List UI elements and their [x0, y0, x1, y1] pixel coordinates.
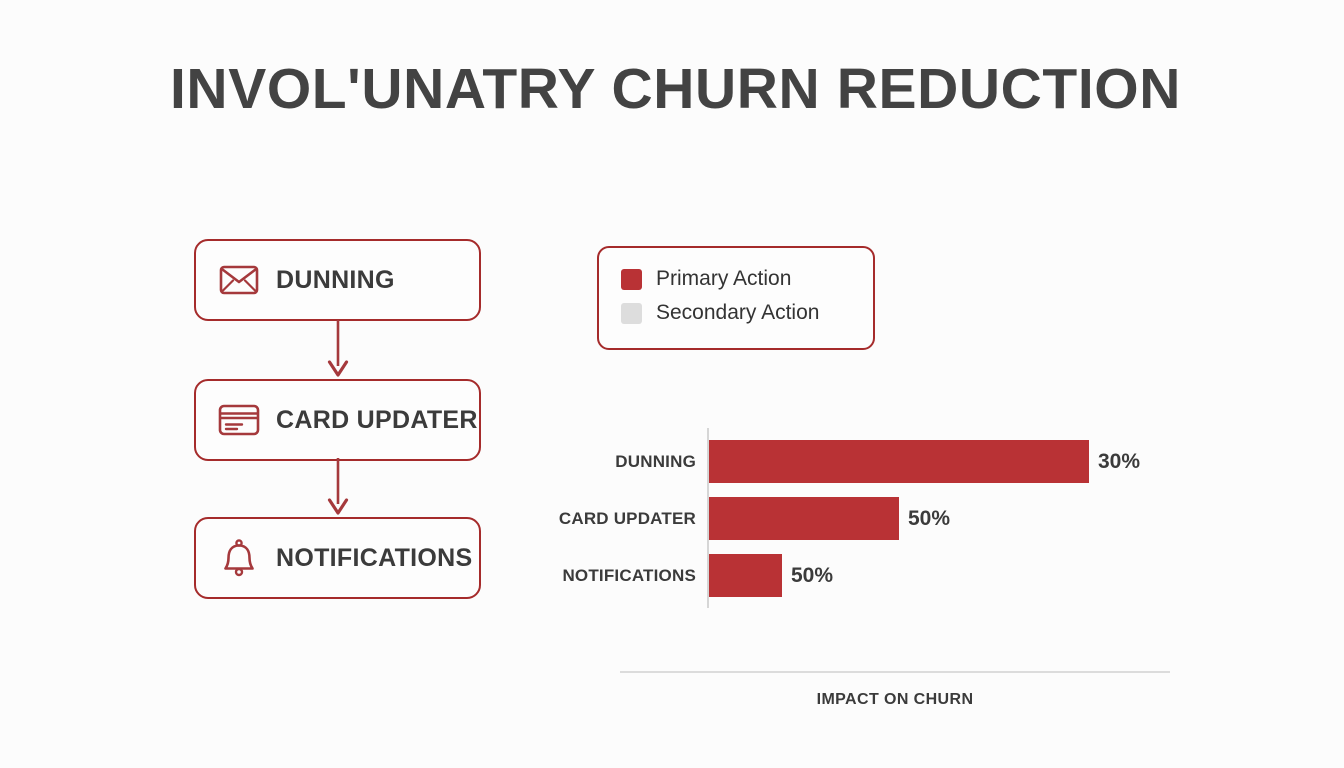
- caption-divider: [620, 671, 1170, 673]
- legend-label: Secondary Action: [656, 301, 819, 325]
- chart-caption: IMPACT ON CHURN: [620, 691, 1170, 709]
- flow-step-notifications[interactable]: NOTIFICATIONS: [194, 517, 481, 599]
- chart-legend: Primary Action Secondary Action: [597, 246, 875, 350]
- bar-category-label: CARD UPDATER: [540, 509, 696, 529]
- bar-row[interactable]: NOTIFICATIONS 50%: [540, 554, 1180, 597]
- bar-value-label: 50%: [908, 507, 950, 531]
- legend-swatch-primary: [621, 269, 642, 290]
- arrow-down-icon: [324, 458, 352, 518]
- bar-fill: [709, 554, 782, 597]
- legend-label: Primary Action: [656, 267, 791, 291]
- slide-canvas: INVOL'UNATRY CHURN REDUCTION DUNNING: [0, 0, 1344, 768]
- legend-item-primary[interactable]: Primary Action: [621, 262, 873, 296]
- envelope-icon: [218, 259, 260, 301]
- bar-value-label: 50%: [791, 564, 833, 588]
- flow-step-label: DUNNING: [276, 266, 395, 295]
- bar-fill: [709, 440, 1089, 483]
- credit-card-icon: [218, 399, 260, 441]
- bar-track: 50%: [709, 554, 833, 597]
- bar-track: 30%: [709, 440, 1140, 483]
- flow-step-dunning[interactable]: DUNNING: [194, 239, 481, 321]
- flow-diagram: DUNNING CARD UPDATER: [194, 239, 481, 601]
- page-title: INVOL'UNATRY CHURN REDUCTION: [170, 58, 1170, 121]
- bar-category-label: DUNNING: [540, 452, 696, 472]
- bar-fill: [709, 497, 899, 540]
- bar-track: 50%: [709, 497, 950, 540]
- bell-icon: [218, 537, 260, 579]
- arrow-down-icon: [324, 320, 352, 380]
- bar-row[interactable]: CARD UPDATER 50%: [540, 497, 1180, 540]
- bar-value-label: 30%: [1098, 450, 1140, 474]
- bar-category-label: NOTIFICATIONS: [540, 566, 696, 586]
- legend-item-secondary[interactable]: Secondary Action: [621, 296, 873, 330]
- flow-step-card-updater[interactable]: CARD UPDATER: [194, 379, 481, 461]
- legend-swatch-secondary: [621, 303, 642, 324]
- flow-step-label: CARD UPDATER: [276, 406, 478, 435]
- flow-step-label: NOTIFICATIONS: [276, 544, 472, 573]
- bar-chart: DUNNING 30% CARD UPDATER 50% NOTIFICATIO…: [540, 428, 1180, 608]
- bar-row[interactable]: DUNNING 30%: [540, 440, 1180, 483]
